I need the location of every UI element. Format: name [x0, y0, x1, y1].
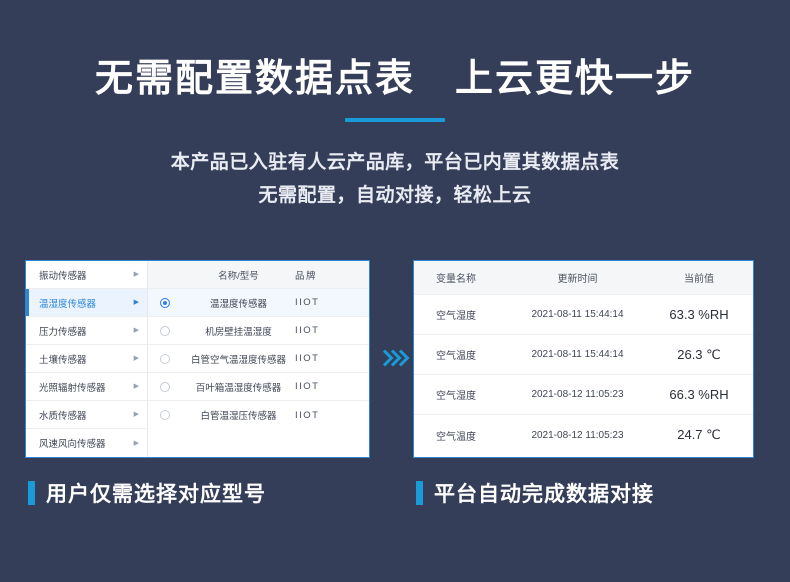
update-time-cell: 2021-08-12 11:05:23: [510, 389, 645, 400]
radio-unselected-icon[interactable]: [160, 326, 170, 336]
product-selection-panel: 振动传感器 ▶ 温湿度传感器 ▶ 压力传感器 ▶ 土壤传感器 ▶ 光照辐射传感器: [25, 260, 370, 458]
current-value-cell: 24.7 ℃: [645, 427, 753, 443]
row-radio-cell[interactable]: [148, 410, 182, 420]
row-radio-cell[interactable]: [148, 326, 182, 336]
model-brand-cell: IIOT: [295, 410, 369, 421]
transition-arrow: [372, 260, 412, 458]
table-row: 空气湿度 2021-08-12 11:05:23 66.3 %RH: [414, 375, 753, 415]
radio-unselected-icon[interactable]: [160, 382, 170, 392]
sensor-category-sidebar: 振动传感器 ▶ 温湿度传感器 ▶ 压力传感器 ▶ 土壤传感器 ▶ 光照辐射传感器: [26, 261, 148, 457]
table-row[interactable]: 机房壁挂温湿度 IIOT: [148, 317, 369, 345]
model-brand-cell: IIOT: [295, 297, 369, 308]
variable-name-cell: 空气湿度: [414, 387, 510, 402]
chevron-right-icon: ▶: [134, 355, 139, 362]
accent-bar-icon: [416, 481, 423, 505]
table-row: 空气湿度 2021-08-11 15:44:14 63.3 %RH: [414, 295, 753, 335]
model-name-cell: 白管温湿压传感器: [182, 408, 295, 422]
table-row[interactable]: 百叶箱温湿度传感器 IIOT: [148, 373, 369, 401]
captions-row: 用户仅需选择对应型号 平台自动完成数据对接: [0, 478, 790, 512]
table-header-row: 名称/型号 品牌: [148, 261, 369, 289]
sidebar-item-temp-humidity[interactable]: 温湿度传感器 ▶: [26, 289, 147, 317]
variable-name-cell: 空气温度: [414, 428, 510, 443]
model-brand-cell: IIOT: [295, 325, 369, 336]
sidebar-item-label: 压力传感器: [39, 324, 134, 338]
sidebar-item-wind[interactable]: 风速风向传感器 ▶: [26, 429, 147, 457]
chevron-right-icon: [395, 351, 404, 367]
row-radio-cell[interactable]: [148, 354, 182, 364]
caption-right: 平台自动完成数据对接: [416, 478, 654, 508]
row-radio-cell[interactable]: [148, 382, 182, 392]
sidebar-item-soil[interactable]: 土壤传感器 ▶: [26, 345, 147, 373]
current-value-cell: 63.3 %RH: [645, 307, 753, 322]
table-row[interactable]: 白管空气温湿度传感器 IIOT: [148, 345, 369, 373]
variable-name-cell: 空气湿度: [414, 307, 510, 322]
table-row: 空气温度 2021-08-11 15:44:14 26.3 ℃: [414, 335, 753, 375]
hero-subtitle: 本产品已入驻有人云产品库，平台已内置其数据点表 无需配置，自动对接，轻松上云: [0, 146, 790, 213]
column-header-name: 名称/型号: [182, 268, 295, 282]
chevron-right-icon: ▶: [134, 411, 139, 418]
sidebar-item-water-quality[interactable]: 水质传感器 ▶: [26, 401, 147, 429]
column-header-value: 当前值: [645, 270, 753, 285]
product-model-table: 名称/型号 品牌 温湿度传感器 IIOT 机房壁挂温湿度 IIOT 白管空气温湿…: [148, 261, 369, 457]
page-title: 无需配置数据点表 上云更快一步: [0, 56, 790, 104]
variable-name-cell: 空气温度: [414, 347, 510, 362]
radio-unselected-icon[interactable]: [160, 410, 170, 420]
table-row[interactable]: 白管温湿压传感器 IIOT: [148, 401, 369, 429]
panels-container: 振动传感器 ▶ 温湿度传感器 ▶ 压力传感器 ▶ 土壤传感器 ▶ 光照辐射传感器: [0, 260, 790, 460]
hero-section: 无需配置数据点表 上云更快一步 本产品已入驻有人云产品库，平台已内置其数据点表 …: [0, 0, 790, 212]
sidebar-item-label: 温湿度传感器: [39, 296, 134, 310]
caption-left: 用户仅需选择对应型号: [28, 478, 266, 508]
table-header-row: 变量名称 更新时间 当前值: [414, 261, 753, 295]
chevron-right-icon: ▶: [134, 299, 139, 306]
hero-subtitle-line-1: 本产品已入驻有人云产品库，平台已内置其数据点表: [0, 146, 790, 179]
update-time-cell: 2021-08-11 15:44:14: [510, 309, 645, 320]
sidebar-item-pressure[interactable]: 压力传感器 ▶: [26, 317, 147, 345]
column-header-brand: 品牌: [295, 268, 369, 282]
model-name-cell: 白管空气温湿度传感器: [182, 352, 295, 366]
caption-right-text: 平台自动完成数据对接: [434, 478, 654, 508]
sidebar-item-label: 振动传感器: [39, 268, 134, 282]
table-row: 空气温度 2021-08-12 11:05:23 24.7 ℃: [414, 415, 753, 455]
accent-bar-icon: [28, 481, 35, 505]
sidebar-item-label: 水质传感器: [39, 408, 134, 422]
model-name-cell: 百叶箱温湿度传感器: [182, 380, 295, 394]
current-value-cell: 66.3 %RH: [645, 387, 753, 402]
model-brand-cell: IIOT: [295, 353, 369, 364]
title-underline-rule: [345, 118, 445, 122]
sidebar-item-vibration[interactable]: 振动传感器 ▶: [26, 261, 147, 289]
model-name-cell: 温湿度传感器: [182, 296, 295, 310]
hero-subtitle-line-2: 无需配置，自动对接，轻松上云: [0, 179, 790, 212]
row-radio-cell[interactable]: [148, 298, 182, 308]
update-time-cell: 2021-08-12 11:05:23: [510, 430, 645, 441]
chevron-right-icon: ▶: [134, 327, 139, 334]
sidebar-item-label: 光照辐射传感器: [39, 380, 134, 394]
radio-selected-icon[interactable]: [160, 298, 170, 308]
model-brand-cell: IIOT: [295, 381, 369, 392]
sidebar-item-light-radiation[interactable]: 光照辐射传感器 ▶: [26, 373, 147, 401]
sidebar-item-label: 土壤传感器: [39, 352, 134, 366]
table-row[interactable]: 温湿度传感器 IIOT: [148, 289, 369, 317]
triple-chevron-right-icon: [380, 351, 404, 367]
caption-left-text: 用户仅需选择对应型号: [46, 478, 266, 508]
sidebar-item-label: 风速风向传感器: [39, 436, 134, 450]
chevron-right-icon: ▶: [134, 440, 139, 447]
radio-unselected-icon[interactable]: [160, 354, 170, 364]
column-header-time: 更新时间: [510, 270, 645, 285]
data-point-panel: 变量名称 更新时间 当前值 空气湿度 2021-08-11 15:44:14 6…: [413, 260, 754, 458]
current-value-cell: 26.3 ℃: [645, 347, 753, 363]
chevron-right-icon: ▶: [134, 271, 139, 278]
model-name-cell: 机房壁挂温湿度: [182, 324, 295, 338]
update-time-cell: 2021-08-11 15:44:14: [510, 349, 645, 360]
column-header-variable: 变量名称: [414, 270, 510, 285]
chevron-right-icon: ▶: [134, 383, 139, 390]
